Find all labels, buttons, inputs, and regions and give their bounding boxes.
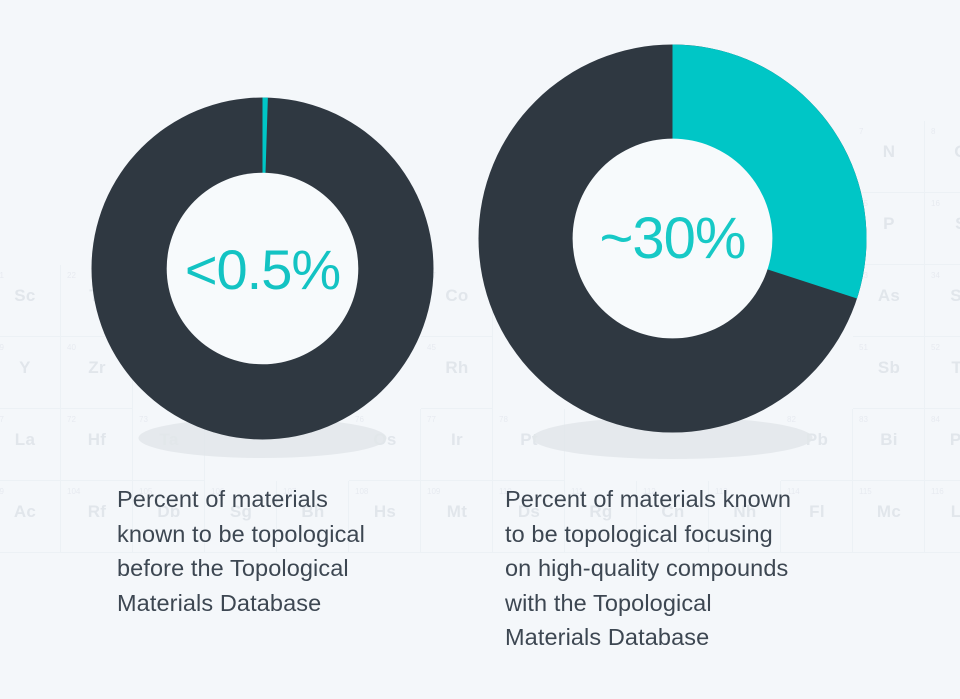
periodic-symbol: La — [0, 431, 61, 448]
caption-line: on high-quality compounds — [505, 551, 860, 586]
periodic-number: 89 — [0, 488, 4, 496]
caption-line: before the Topological — [117, 551, 437, 586]
periodic-symbol: Y — [0, 359, 61, 376]
donut-chart-before: <0.5% — [90, 97, 435, 442]
periodic-number: 21 — [0, 272, 4, 280]
periodic-symbol: Ac — [0, 503, 61, 520]
periodic-cell-se: 34Se — [925, 265, 960, 337]
periodic-symbol: Se — [925, 287, 960, 304]
periodic-number: 52 — [931, 344, 940, 352]
periodic-cell-y: 39Y — [0, 337, 61, 409]
donut-chart-after: ~30% — [478, 44, 867, 433]
periodic-symbol: O — [925, 143, 960, 160]
caption-line: Percent of materials known — [505, 482, 860, 517]
donut-left-value-label: <0.5% — [90, 242, 435, 298]
periodic-cell-s: 16S — [925, 193, 960, 265]
periodic-number: 84 — [931, 416, 940, 424]
periodic-cell-sc: 21Sc — [0, 265, 61, 337]
periodic-number: 22 — [67, 272, 76, 280]
periodic-cell-la: 57La — [0, 409, 61, 481]
periodic-number: 8 — [931, 128, 935, 136]
periodic-symbol: Po — [925, 431, 960, 448]
periodic-symbol: S — [925, 215, 960, 232]
periodic-number: 72 — [67, 416, 76, 424]
periodic-symbol: Lv — [925, 503, 960, 520]
donut-right-value-label: ~30% — [478, 210, 867, 268]
periodic-symbol: Mc — [853, 503, 925, 520]
periodic-number: 16 — [931, 200, 940, 208]
periodic-number: 116 — [931, 488, 944, 496]
caption-line: with the Topological — [505, 586, 860, 621]
infographic-canvas: 7N8O15P16S21Sc22Ti27Co33As34Se39Y40Zr45R… — [0, 0, 960, 699]
periodic-number: 40 — [67, 344, 76, 352]
caption-line: Percent of materials — [117, 482, 437, 517]
caption-line: to be topological focusing — [505, 517, 860, 552]
periodic-symbol: Sc — [0, 287, 61, 304]
periodic-cell-te: 52Te — [925, 337, 960, 409]
periodic-cell-lv: 116Lv — [925, 481, 960, 553]
periodic-cell-o: 8O — [925, 121, 960, 193]
periodic-number: 34 — [931, 272, 940, 280]
periodic-cell-po: 84Po — [925, 409, 960, 481]
caption-line: Materials Database — [505, 620, 860, 655]
caption-line: known to be topological — [117, 517, 437, 552]
periodic-symbol: Te — [925, 359, 960, 376]
periodic-number: 104 — [67, 488, 80, 496]
periodic-number: 57 — [0, 416, 4, 424]
periodic-number: 115 — [859, 488, 872, 496]
periodic-number: 39 — [0, 344, 4, 352]
periodic-cell-ac: 89Ac — [0, 481, 61, 553]
caption-line: Materials Database — [117, 586, 437, 621]
periodic-cell-mc: 115Mc — [853, 481, 925, 553]
caption-before: Percent of materialsknown to be topologi… — [117, 482, 437, 620]
caption-after: Percent of materials knownto be topologi… — [505, 482, 860, 655]
